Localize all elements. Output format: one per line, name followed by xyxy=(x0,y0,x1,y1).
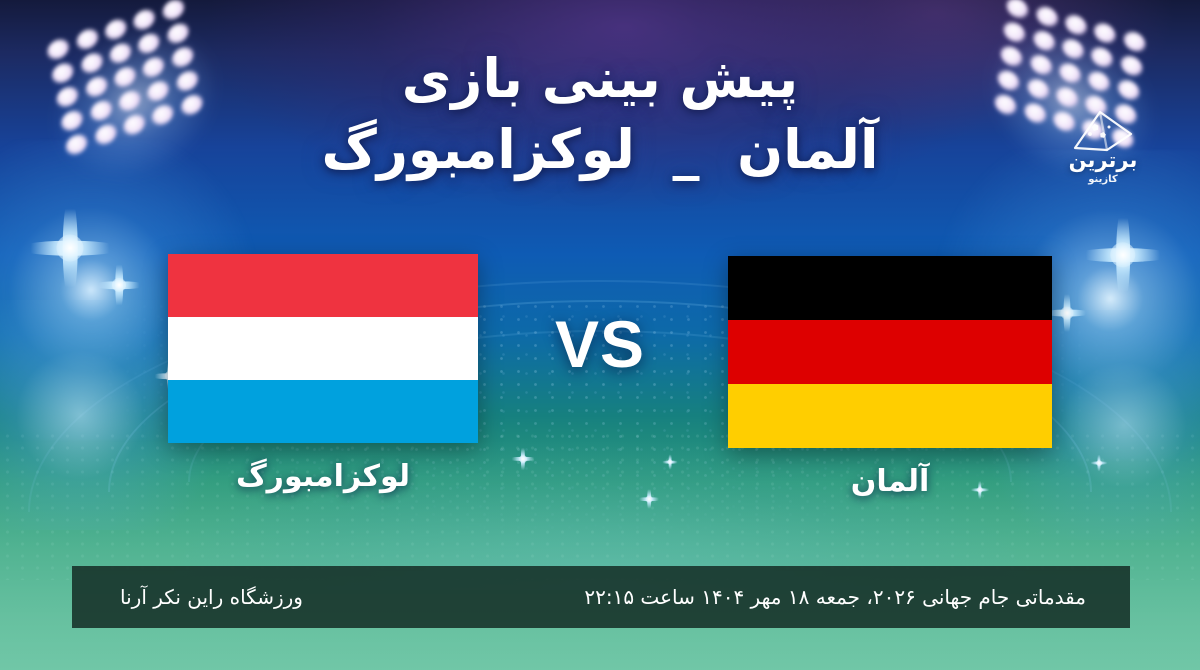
headline-line-1: پیش بینی بازی xyxy=(0,48,1200,110)
team-name-germany: آلمان xyxy=(728,464,1052,499)
team-germany: آلمان xyxy=(728,256,1052,499)
team-name-luxembourg: لوکزامبورگ xyxy=(168,459,478,494)
germany-flag-icon xyxy=(728,256,1052,448)
banner-headline: پیش بینی بازی آلمان _ لوکزامبورگ xyxy=(0,48,1200,183)
headline-line-2: آلمان _ لوکزامبورگ xyxy=(0,118,1200,183)
brand-logo[interactable]: برترین کازینو xyxy=(1044,104,1162,194)
venue-info: ورزشگاه راین نکر آرنا xyxy=(120,585,303,609)
match-info-bar: مقدماتی جام جهانی ۲۰۲۶، جمعه ۱۸ مهر ۱۴۰۴… xyxy=(72,566,1130,628)
brand-subtitle: کازینو xyxy=(1044,174,1162,185)
match-prediction-banner: پیش بینی بازی آلمان _ لوکزامبورگ برترین … xyxy=(0,0,1200,670)
brand-name: برترین xyxy=(1044,150,1162,171)
competition-info: مقدماتی جام جهانی ۲۰۲۶، جمعه ۱۸ مهر ۱۴۰۴… xyxy=(584,585,1086,609)
